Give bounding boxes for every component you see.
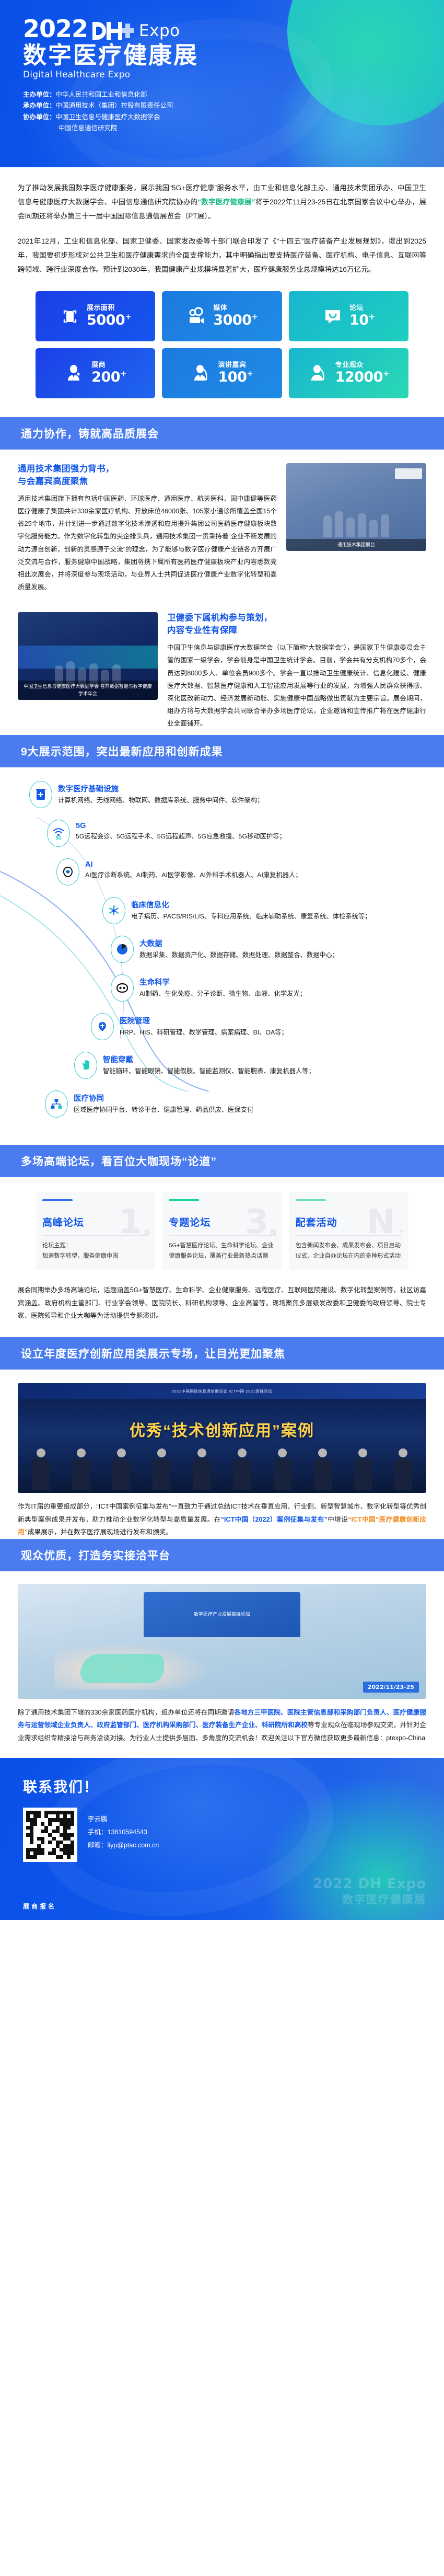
footer-contact-block: 李云鹏 手机：13810594543 邮箱：liyp@ptac.com.cn (88, 1808, 159, 1852)
intro-section: 为了推动发展我国数字医疗健康服务，展示我国“5G+医疗健康”服务水平，由工业和信… (0, 167, 444, 277)
scope-item-desc: 5G远程会诊、5G远程手术、5G远程超声、5G应急救援、5G移动医护等； (76, 832, 286, 842)
organizer-row: 主办单位： 中华人民共和国工业和信息化部 (23, 89, 444, 101)
award-person (191, 1448, 212, 1490)
footer-ghost-expo: Expo (387, 1876, 426, 1892)
stats-grid: 展示面积 5000+ 媒体 3000+ 论坛 10+ 展商 200+ (0, 287, 444, 417)
forum-card-unit: 场 (143, 1227, 150, 1237)
scope-item-desc: 区域医疗协同平台、转诊平台、健康管理、药品供应、医保支付 (74, 1105, 253, 1115)
visitor-caption-a: 除了通用技术集团下辖的330余家医药医疗机构，组办单位还将在同期邀请 (18, 1709, 234, 1716)
contact-name: 李云鹏 (88, 1813, 159, 1826)
forum-card-number: N (367, 1205, 395, 1239)
exhibitor-person-icon (64, 363, 85, 384)
card-accent-bar (169, 1199, 199, 1201)
collab-block1-heading: 通用技术集团强力背书， 与会嘉宾高度聚焦 (18, 463, 277, 488)
contact-phone-value: 13810594543 (108, 1828, 147, 1836)
forum-note: 展会同期举办多场高端论坛，话题涵盖5G+智慧医疗、生命科学、企业健康服务、远程医… (0, 1279, 444, 1337)
logo-expo-word: Expo (139, 21, 180, 40)
stat-plus: + (383, 369, 389, 378)
forum-card-summit: 1 场 高峰论坛 论坛主题： 加速数字转型，服务健康中国 (36, 1192, 155, 1270)
contact-phone-row: 手机：13810594543 (88, 1826, 159, 1839)
organizer-value: 中国信息通信研究院 (59, 123, 118, 134)
stat-card-audience: 专业观众 12000+ (289, 348, 408, 398)
scope-item-desc: 数据采集、数据资产化、数据存储、数据处理、数据整合、数据中心； (139, 950, 338, 961)
section-bar-visitor: 观众优质，打造务实接洽平台 (0, 1539, 444, 1571)
footer-ghost-logo: 2022 DH Expo 数字医疗健康展 (313, 1876, 426, 1906)
logo-letter-d-icon (92, 22, 106, 40)
scope-item-title: 临床信息化 (131, 899, 371, 910)
stat-number: 100 (218, 369, 247, 385)
stat-card-area: 展示面积 5000+ (36, 291, 155, 341)
award-caption-text: 作为IT届的重要组成部分，“ICT中国案例征集与发布”一直致力于通过总结ICT技… (18, 1500, 426, 1539)
stat-number: 5000 (87, 312, 125, 328)
medical-network-icon (45, 1090, 68, 1118)
speaker-person-icon (191, 363, 212, 384)
organizer-label: 主办单位： (23, 89, 56, 101)
award-caption-c: 成果展示，并在数字医疗展现场进行发布和颁奖。 (28, 1528, 172, 1536)
stat-number: 3000 (213, 312, 251, 328)
scope-item-5g: 5G 5G 5G远程会诊、5G远程手术、5G远程超声、5G应急救援、5G移动医护… (47, 820, 444, 847)
collab-block1-body: 通用技术集团旗下拥有包括中国医药、环球医疗、通用医疗、航天医科、国中康健等医药医… (18, 492, 277, 593)
stat-card-media: 媒体 3000+ (162, 291, 282, 341)
scope-item-title: 医疗协同 (74, 1092, 253, 1103)
scope-item-title: 数字医疗基础设施 (58, 783, 264, 794)
forum-card-activities: N + 配套活动 包含新闻发布会、成果发布会、项目启动仪式、企业自办论坛在内的多… (289, 1192, 408, 1270)
award-person (353, 1448, 373, 1490)
organizer-list: 主办单位： 中华人民共和国工业和信息化部 承办单位： 中国通用技术（集团）控股有… (23, 89, 444, 134)
award-person (232, 1448, 253, 1490)
footer-title: 联系我们！ (0, 1758, 444, 1796)
stat-value: 3000+ (213, 313, 258, 328)
scope-item-bigdata: 大数据 数据采集、数据资产化、数据存储、数据处理、数据整合、数据中心； (111, 936, 444, 963)
intro-paragraph-2: 2021年12月，工业和信息化部、国家卫健委、国家发改委等十部门联合印发了《“十… (18, 234, 426, 277)
section-bar-forum: 多场高端论坛，看百位大咖现场“论道” (0, 1145, 444, 1177)
stat-value: 12000+ (335, 370, 390, 385)
award-person (151, 1448, 172, 1490)
scope-item-clinical: 临床信息化 电子病历、PACS/RIS/LIS、专科应用系统、临床辅助系统、康复… (102, 897, 444, 924)
area-frame-icon (60, 306, 80, 327)
big-data-pie-icon (111, 936, 134, 963)
award-person (111, 1448, 132, 1490)
award-ceremony-photo: 2021中国国际信息通信展览会 ICT中国·2021高峰论坛 优秀“技术创新应用… (18, 1383, 426, 1493)
stat-plus: + (369, 312, 375, 321)
stat-value: 10+ (349, 313, 375, 328)
intro-paragraph-1: 为了推动发展我国数字医疗健康服务，展示我国“5G+医疗健康”服务水平，由工业和信… (18, 181, 426, 224)
stat-number: 200 (91, 369, 120, 385)
video-camera-icon (186, 306, 207, 327)
organizer-row: 中国信息通信研究院 (23, 123, 444, 134)
scope-item-infrastructure: 数字医疗基础设施 计算机网络、无线网络、物联网、数据库系统、服务中间件、软件架构… (29, 781, 444, 808)
visitor-caption: 除了通用技术集团下辖的330余家医药医疗机构，组办单位还将在同期邀请各地方三甲医… (18, 1699, 426, 1758)
scope-item-medical-coordination: 医疗协同 区域医疗协同平台、转诊平台、健康管理、药品供应、医保支付 (45, 1090, 444, 1118)
collab-block2-heading-line2: 内容专业性有保障 (167, 626, 237, 635)
stat-card-exhibitor: 展商 200+ (36, 348, 155, 398)
card-accent-bar (296, 1199, 326, 1201)
stat-card-forum: 论坛 10+ (289, 291, 408, 341)
stat-plus: + (120, 369, 126, 378)
visitor-section: 数字医疗产业发展高峰论坛 2022/11/23-25 除了通用技术集团下辖的33… (0, 1571, 444, 1758)
collab-block2-photo-caption: 中国卫生信息与健康医疗大数据学会 召开数据智能与数字健康学术年会 (18, 681, 158, 700)
award-caption-hl1: “ICT中国（2022）案例征集与发布” (221, 1516, 328, 1523)
award-caption-b: 中增设 (328, 1516, 348, 1523)
scope-item-title: AI (85, 860, 302, 869)
forum-card-number: 1 (119, 1205, 142, 1239)
organizer-label: 协办单位： (23, 112, 56, 123)
visitor-photo-date-badge: 2022/11/23-25 (363, 1682, 419, 1693)
hospital-building-icon (29, 781, 52, 808)
hospital-management-icon (91, 1013, 114, 1040)
stat-plus: + (125, 312, 131, 321)
award-photo-topbar: 2021中国国际信息通信展览会 ICT中国·2021高峰论坛 (18, 1383, 426, 1399)
stat-label: 展商 (91, 361, 126, 369)
forum-card-topical: 3 场 专题论坛 5G+智慧医疗论坛、生命科学论坛、企业健康服务论坛，覆盖行业最… (162, 1192, 282, 1270)
footer-ghost-line2: 数字医疗健康展 (313, 1893, 426, 1906)
contact-email-value: liyp@ptac.com.cn (108, 1842, 159, 1849)
stat-value: 100+ (218, 370, 253, 385)
scope-item-title: 医院管理 (120, 1015, 288, 1026)
scope-item-title: 生命科学 (139, 976, 306, 987)
event-logo: 2022 Expo (23, 18, 444, 41)
page-header: 2022 Expo 数字医疗健康展 Digital Healthcare Exp… (0, 0, 444, 167)
logo-year: 2022 (23, 18, 88, 41)
forum-card-unit: 场 (270, 1227, 277, 1237)
award-photo-title: 优秀“技术创新应用”案例 (18, 1418, 426, 1441)
logo-letter-h-icon (107, 22, 122, 40)
scope-list: 数字医疗基础设施 计算机网络、无线网络、物联网、数据库系统、服务中间件、软件架构… (0, 767, 444, 1145)
logo-plus-icon (121, 22, 134, 40)
stat-card-speaker: 演讲嘉宾 100+ (162, 348, 282, 398)
stat-plus: + (252, 312, 258, 321)
forum-card-text: 包含新闻发布会、成果发布会、项目启动仪式、企业自办论坛在内的多种形式活动 (296, 1241, 402, 1261)
stat-value: 5000+ (87, 313, 131, 328)
contact-email-label: 邮箱： (88, 1842, 108, 1849)
scope-item-desc: 计算机网络、无线网络、物联网、数据库系统、服务中间件、软件架构； (58, 796, 264, 806)
stat-plus: + (247, 369, 253, 378)
forum-card-number: 3 (245, 1205, 268, 1239)
organizer-row: 协办单位： 中国卫生信息与健康医疗大数据学会 (23, 112, 444, 123)
stat-number: 10 (349, 312, 369, 328)
collab-block-general-tech: 通用技术集团强力背书， 与会嘉宾高度聚焦 通用技术集团旗下拥有包括中国医药、环球… (0, 450, 444, 599)
contact-email-row: 邮箱：liyp@ptac.com.cn (88, 1839, 159, 1852)
logo-title-en: Digital Healthcare Expo (23, 70, 444, 80)
visitor-caption-text: 除了通用技术集团下辖的330余家医药医疗机构，组办单位还将在同期邀请各地方三甲医… (18, 1706, 426, 1745)
collab-block2-heading: 卫健委下属机构参与策划， 内容专业性有保障 (167, 612, 426, 637)
award-section: 2021中国国际信息通信展览会 ICT中国·2021高峰论坛 优秀“技术创新应用… (0, 1370, 444, 1539)
organizer-value: 中华人民共和国工业和信息化部 (56, 89, 147, 101)
visitor-photo: 数字医疗产业发展高峰论坛 2022/11/23-25 (18, 1584, 426, 1699)
stat-label: 论坛 (349, 304, 375, 312)
scope-item-title: 智能穿戴 (103, 1054, 315, 1065)
section-bar-award: 设立年度医疗创新应用类展示专场，让目光更加聚焦 (0, 1337, 444, 1370)
stat-label: 演讲嘉宾 (218, 361, 253, 369)
forum-note-text: 展会同期举办多场高端论坛，话题涵盖5G+智慧医疗、生命科学、企业健康服务、远程医… (18, 1284, 426, 1322)
scope-item-hospital-management: 医院管理 HRP、HIS、科研管理、教学管理、病案病理、BI、OA等； (91, 1013, 444, 1040)
award-person (272, 1448, 293, 1490)
collab-block2-heading-line1: 卫健委下属机构参与策划， (167, 613, 273, 623)
scope-item-desc: AI制药、生化免疫、分子诊断、微生物、血液、化学发光； (139, 989, 306, 999)
scope-item-life-science: 生命科学 AI制药、生化免疫、分子诊断、微生物、血液、化学发光； (111, 974, 444, 1002)
stat-number: 12000 (335, 369, 383, 385)
photo-people-silhouettes (286, 504, 426, 537)
collab-block-big-data-society: 卫健委下属机构参与策划， 内容专业性有保障 中国卫生信息与健康医疗大数据学会（以… (0, 599, 444, 735)
footer-register-tag[interactable]: 展商报名 (23, 1902, 56, 1911)
stat-label: 展示面积 (87, 304, 131, 312)
award-person (71, 1448, 91, 1490)
forum-card-unit: + (399, 1227, 403, 1235)
photo-booth-sign (395, 468, 422, 479)
award-person (312, 1448, 333, 1490)
page-footer: 联系我们！ 李云鹏 手机：13810594543 邮箱：liyp@ptac.co… (0, 1758, 444, 1920)
footer-ghost-dh: DH (358, 1876, 382, 1892)
award-caption: 作为IT届的重要组成部分，“ICT中国案例征集与发布”一直致力于通过总结ICT技… (18, 1493, 426, 1539)
audience-person-icon (308, 363, 329, 384)
scope-item-desc: 智能脑环、智能眼镜、智能假肢、智能监测仪、智能腕表、康复机器人等； (103, 1066, 315, 1077)
wechat-qr-code[interactable] (23, 1808, 77, 1862)
life-science-cell-icon (111, 974, 134, 1002)
scope-item-desc: 电子病历、PACS/RIS/LIS、专科应用系统、临床辅助系统、康复系统、体检系… (131, 912, 371, 922)
wifi-5g-icon: 5G (47, 820, 70, 847)
speech-bubble-icon (322, 306, 343, 327)
svg-text:5G: 5G (55, 836, 61, 840)
qr-grid (26, 1811, 74, 1859)
organizer-row: 承办单位： 中国通用技术（集团）控股有限责任公司 (23, 100, 444, 112)
organizer-label: 承办单位： (23, 100, 56, 112)
contact-phone-label: 手机： (88, 1828, 108, 1836)
collab-block1-heading-line1: 通用技术集团强力背书， (18, 464, 114, 474)
section-bar-collaboration: 通力协作，铸就高品质展会 (0, 417, 444, 450)
scope-item-title: 5G (76, 822, 286, 830)
forum-cards: 1 场 高峰论坛 论坛主题： 加速数字转型，服务健康中国 3 场 专题论坛 5G… (0, 1177, 444, 1279)
stat-label: 专业观众 (335, 361, 390, 369)
forum-card-text: 论坛主题： 加速数字转型，服务健康中国 (42, 1241, 148, 1261)
clinical-node-icon (102, 897, 125, 924)
section-bar-scope: 9大展示范围，突出最新应用和创新成果 (0, 735, 444, 767)
collab-block1-photo-caption: 通用技术集团展台 (286, 539, 426, 551)
award-person (30, 1448, 51, 1490)
intro-p1-highlight: “数字医疗健康展” (197, 198, 255, 206)
organizer-value: 中国通用技术（集团）控股有限责任公司 (56, 100, 173, 112)
collab-block2-body: 中国卫生信息与健康医疗大数据学会（以下简称“大数据学会”），是国家卫生健康委员会… (167, 641, 426, 730)
stat-label: 媒体 (213, 304, 258, 312)
card-accent-bar (42, 1199, 73, 1201)
ai-brain-icon (56, 858, 79, 885)
collab-block1-photo: 通用技术集团展台 (286, 463, 426, 551)
scope-item-desc: HRP、HIS、科研管理、教学管理、病案病理、BI、OA等； (120, 1028, 288, 1038)
visitor-photo-screen-text: 数字医疗产业发展高峰论坛 (144, 1592, 300, 1637)
footer-ghost-line1: 2022 DH Expo (313, 1876, 426, 1892)
logo-dh-mark (92, 22, 134, 40)
forum-card-text: 5G+智慧医疗论坛、生命科学论坛、企业健康服务论坛，覆盖行业最新热点话题 (169, 1241, 275, 1261)
stat-value: 200+ (91, 370, 126, 385)
scope-item-title: 大数据 (139, 938, 338, 949)
collab-block1-heading-line2: 与会嘉宾高度聚焦 (18, 477, 88, 486)
organizer-value: 中国卫生信息与健康医疗大数据学会 (56, 112, 160, 123)
scope-item-wearable: 智能穿戴 智能脑环、智能眼镜、智能假肢、智能监测仪、智能腕表、康复机器人等； (74, 1052, 444, 1079)
scope-item-ai: AI AI医疗诊断系统、AI制药、AI医学影像、AI外科手术机器人、AI康复机器… (56, 858, 444, 885)
scope-item-desc: AI医疗诊断系统、AI制药、AI医学影像、AI外科手术机器人、AI康复机器人； (85, 870, 302, 881)
smart-wearable-hand-icon (74, 1052, 97, 1079)
collab-block2-photo: 中国卫生信息与健康医疗大数据学会 召开数据智能与数字健康学术年会 (18, 612, 158, 700)
visitor-photo-glove (80, 1654, 164, 1683)
logo-title-cn: 数字医疗健康展 (23, 43, 444, 67)
award-photo-people (30, 1440, 414, 1490)
award-person (393, 1448, 414, 1490)
footer-ghost-year: 2022 (313, 1876, 353, 1892)
